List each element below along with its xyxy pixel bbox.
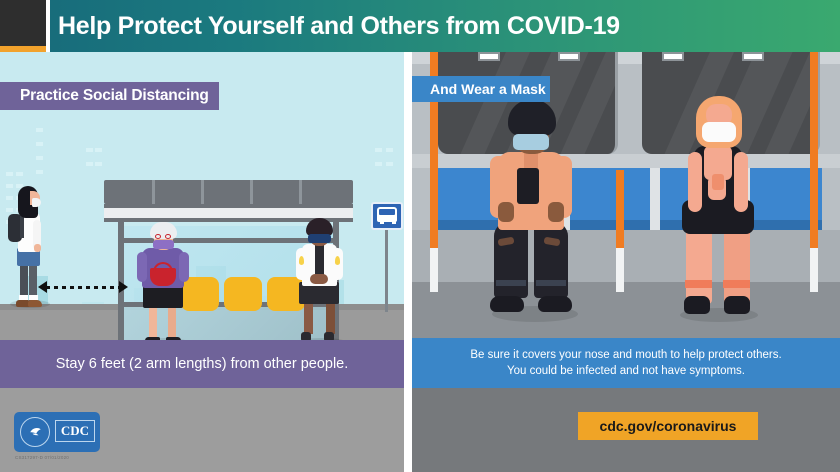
grab-pole-base [430,248,438,292]
url-button[interactable]: cdc.gov/coronavirus [578,412,758,440]
right-caption-line-2: You could be infected and not have sympt… [412,363,840,379]
window-ledge [412,154,840,168]
left-caption-bar: Stay 6 feet (2 arm lengths) from other p… [0,340,404,388]
smartphone [712,174,724,190]
shelter-seat [224,277,262,311]
bus-icon-wheel [392,221,396,224]
smartphone [517,168,539,204]
hhs-eagle-icon [28,424,43,439]
cdc-wordmark: CDC [55,420,95,442]
eyeglasses [155,234,161,239]
header-black-block [0,0,46,46]
sign-pole [385,230,388,312]
bus-icon-wheel [380,221,384,224]
face-mask [513,134,549,150]
shelter-roof [104,180,353,204]
subway-lower-wall [412,230,840,282]
arrow-dotted-line [46,286,120,289]
grab-pole [810,52,818,250]
grab-pole [616,170,624,248]
header-divider [46,0,50,52]
shelter-rail-top [118,238,339,243]
right-caption-line-1: Be sure it covers your nose and mouth to… [412,338,840,363]
page-title: Help Protect Yourself and Others from CO… [58,7,758,45]
grab-pole-base [810,248,818,292]
panel-divider [404,52,412,472]
face-mask [153,240,174,249]
grab-pole-base [616,248,624,292]
cdc-covid-poster: Help Protect Yourself and Others from CO… [0,0,840,472]
window-clip [558,52,580,61]
hair [508,100,556,136]
subway-seat [570,168,650,230]
face-mask [32,198,41,207]
face-mask [702,122,736,142]
publication-code: CS317297-D 07/01/2020 [15,455,69,460]
window-clip [478,52,500,61]
left-banner-label: Practice Social Distancing [0,82,219,110]
window-clip [662,52,684,61]
shoe [538,296,572,312]
shoe [724,296,750,314]
shoe [490,296,524,312]
shelter-seat [181,277,219,311]
right-caption-bar: Be sure it covers your nose and mouth to… [412,338,840,388]
left-banner: Practice Social Distancing [0,82,219,110]
right-banner: And Wear a Mask [412,76,550,102]
window-clip [742,52,764,61]
right-panel-wear-a-mask: And Wear a Mask Be sure it covers your n… [412,52,840,472]
poster-header: Help Protect Yourself and Others from CO… [0,0,840,52]
arrow-head-right [119,281,128,293]
bus-icon-window [379,209,395,215]
right-banner-label: And Wear a Mask [412,76,550,102]
left-caption-text: Stay 6 feet (2 arm lengths) from other p… [0,340,404,388]
url-button-label: cdc.gov/coronavirus [578,412,758,440]
subway-seat-row [412,168,840,230]
left-panel-social-distancing: Practice Social Distancing Stay 6 feet (… [0,52,404,472]
face-mask [308,234,331,243]
subway-floor [412,282,840,338]
shoe [684,296,710,314]
